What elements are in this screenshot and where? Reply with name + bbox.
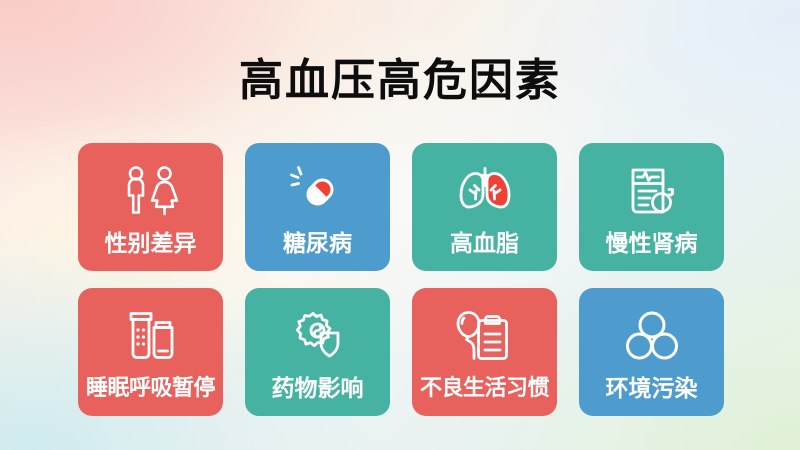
- male-female-icon: [115, 160, 187, 222]
- risk-card-gender-difference[interactable]: 性别差异: [78, 143, 223, 271]
- risk-card-environmental-pollution[interactable]: 环境污染: [579, 288, 724, 416]
- medical-report-icon: [616, 160, 688, 222]
- risk-card-sleep-apnea[interactable]: 睡眠呼吸暂停: [78, 288, 223, 416]
- balloon-clipboard-icon: [449, 305, 521, 367]
- page-title: 高血压高危因素: [0, 56, 800, 106]
- lungs-icon: [449, 160, 521, 222]
- medicine-bottles-icon: [115, 305, 187, 367]
- risk-card-label: 睡眠呼吸暂停: [86, 375, 215, 401]
- risk-card-label: 药物影响: [272, 375, 364, 401]
- risk-card-medication-effects[interactable]: 药物影响: [245, 288, 390, 416]
- capsule-pill-icon: [282, 160, 354, 222]
- risk-card-label: 糖尿病: [283, 230, 352, 256]
- risk-card-label: 慢性肾病: [606, 230, 698, 256]
- risk-card-label: 性别差异: [105, 230, 197, 256]
- risk-card-diabetes[interactable]: 糖尿病: [245, 143, 390, 271]
- three-circles-icon: [616, 305, 688, 367]
- risk-card-hyperlipidemia[interactable]: 高血脂: [412, 143, 557, 271]
- risk-card-label: 环境污染: [606, 375, 698, 401]
- risk-card-label: 不良生活习惯: [420, 375, 549, 401]
- risk-card-label: 高血脂: [450, 230, 519, 256]
- risk-card-chronic-kidney-disease[interactable]: 慢性肾病: [579, 143, 724, 271]
- risk-factor-grid: 性别差异 糖尿病: [78, 143, 724, 416]
- poster-canvas: 高血压高危因素 性别差异: [0, 0, 800, 450]
- risk-card-unhealthy-lifestyle[interactable]: 不良生活习惯: [412, 288, 557, 416]
- gear-shield-icon: [282, 305, 354, 367]
